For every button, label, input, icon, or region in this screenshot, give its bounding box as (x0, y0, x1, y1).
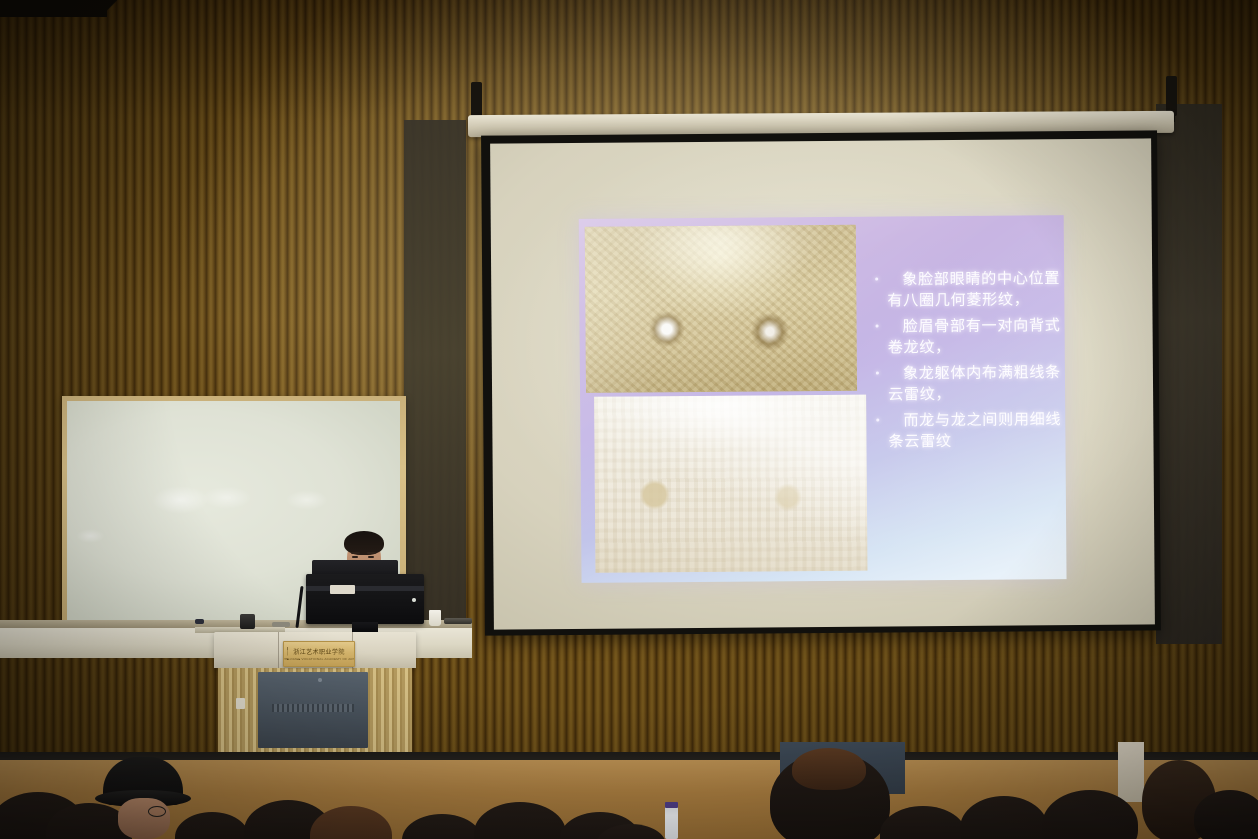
slide-bullet-4-text: 而龙与龙之间则用细线条云雷纹 (888, 411, 1061, 450)
presenter-brow-right (367, 552, 376, 554)
desk-remote-control (444, 618, 472, 624)
marker-dark (195, 619, 204, 624)
whiteboard-eraser (240, 614, 255, 629)
slide-bullet-1-text: 象脸部眼睛的中心位置有八圈几何菱形纹， (887, 270, 1060, 309)
water-bottle (665, 805, 678, 839)
slide-bullet-3: 象龙躯体内布满粗线条云雷纹， (876, 363, 1062, 405)
bullet-dot-icon (876, 325, 879, 328)
slide-image-bronze-vessel-taotie (594, 395, 867, 573)
plaque-english-name: ZHEJIANG VOCATIONAL ACADEMY OF ART (283, 657, 355, 661)
marker-grey (272, 622, 290, 627)
slide-bullet-3-text: 象龙躯体内布满粗线条云雷纹， (888, 364, 1061, 403)
monitor-power-led-icon (412, 598, 416, 602)
bullet-dot-icon (875, 278, 878, 281)
audience-head (1194, 790, 1258, 839)
paper-cup (429, 610, 441, 626)
slide-bullet-4: 而龙与龙之间则用细线条云雷纹 (876, 410, 1062, 452)
monitor-stand (352, 622, 378, 632)
plaque-chinese-name: 浙江艺术职业学院 (293, 647, 345, 656)
podium-vent-grille (272, 704, 354, 712)
projection-screen: 象脸部眼睛的中心位置有八圈几何菱形纹， 脸眉骨部有一对向背式卷龙纹， 象龙躯体内… (481, 130, 1161, 635)
lecture-hall-photo: 象脸部眼睛的中心位置有八圈几何菱形纹， 脸眉骨部有一对向背式卷龙纹， 象龙躯体内… (0, 0, 1258, 839)
presenter-eye-right (368, 556, 374, 558)
podium-plaque: 浙江艺术职业学院 ZHEJIANG VOCATIONAL ACADEMY OF … (283, 641, 355, 667)
screen-surface: 象脸部眼睛的中心位置有八圈几何菱形纹， 脸眉骨部有一对向背式卷龙纹， 象龙躯体内… (490, 138, 1155, 629)
podium-panel-dot-icon (318, 678, 322, 682)
stage-right-step (1118, 742, 1144, 802)
monitor-label-tag (330, 585, 355, 594)
slide-bullet-list: 象脸部眼睛的中心位置有八圈几何菱形纹， 脸眉骨部有一对向背式卷龙纹， 象龙躯体内… (875, 269, 1062, 458)
slide-image-bronze-elephant-face (585, 225, 857, 393)
slide-bullet-1: 象脸部眼睛的中心位置有八圈几何菱形纹， (875, 269, 1061, 311)
presenter-eye-left (352, 556, 358, 558)
wall-shadow-left-of-screen (404, 120, 466, 640)
bullet-dot-icon (876, 419, 879, 422)
projected-slide: 象脸部眼睛的中心位置有八圈几何菱形纹， 脸眉骨部有一对向背式卷龙纹， 象龙躯体内… (579, 215, 1067, 583)
audience-head-with-hat (118, 798, 170, 839)
water-bottle-cap (665, 802, 678, 808)
audience-hair-highlight (792, 748, 866, 790)
presenter-brow-left (351, 552, 360, 554)
wall-socket (236, 698, 245, 709)
bullet-dot-icon (876, 372, 879, 375)
slide-bullet-2: 脸眉骨部有一对向背式卷龙纹， (875, 316, 1061, 358)
monitor-bezel-strip (306, 586, 424, 591)
audience-glasses-icon (148, 806, 166, 817)
ceiling-shadow-corner (0, 0, 107, 17)
presenter-hair (344, 531, 384, 555)
presenter-monitor (306, 574, 424, 624)
wall-shadow-right-of-screen (1156, 104, 1222, 644)
podium-seam-left (278, 632, 279, 668)
slide-bullet-2-text: 脸眉骨部有一对向背式卷龙纹， (888, 317, 1061, 356)
